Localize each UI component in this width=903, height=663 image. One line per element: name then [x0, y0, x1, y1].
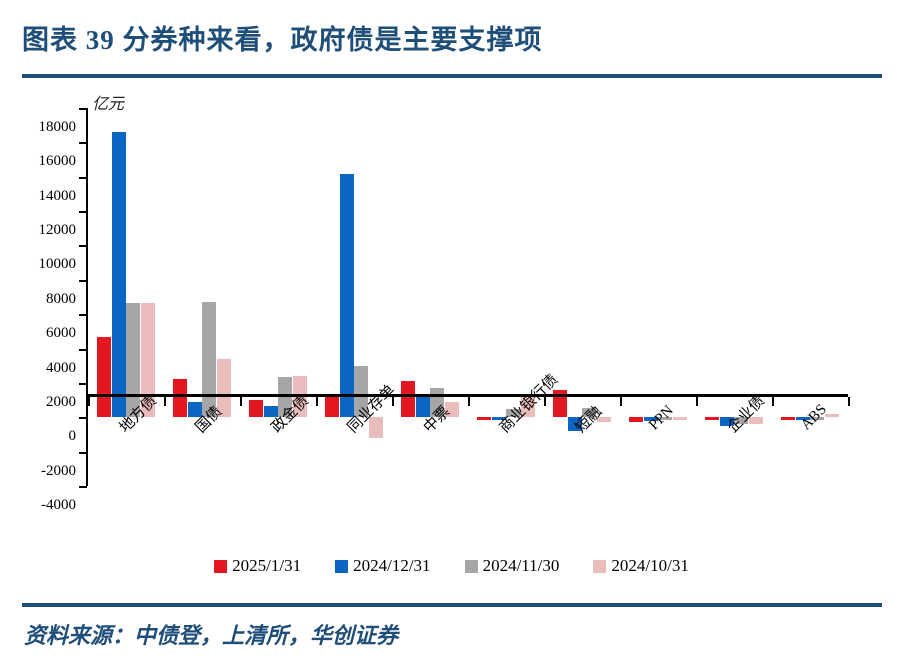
x-tick-mark — [620, 397, 622, 406]
x-tick-mark — [164, 397, 166, 406]
legend-swatch-icon — [335, 560, 348, 573]
x-tick-mark — [848, 397, 850, 406]
bars-layer — [0, 88, 903, 588]
legend-item[interactable]: 2024/12/31 — [335, 556, 430, 576]
bar — [112, 132, 126, 417]
x-tick-mark — [696, 397, 698, 406]
bar — [401, 381, 415, 417]
chart-plot-area: 亿元 1800016000140001200010000800060004000… — [0, 88, 903, 588]
legend-item[interactable]: 2024/11/30 — [465, 556, 560, 576]
legend-swatch-icon — [214, 560, 227, 573]
legend-swatch-icon — [593, 560, 606, 573]
legend-item[interactable]: 2025/1/31 — [214, 556, 301, 576]
bar — [705, 417, 719, 420]
bar — [673, 417, 687, 420]
bar — [629, 417, 643, 421]
bar — [340, 174, 354, 417]
x-tick-mark — [772, 397, 774, 406]
bar — [325, 394, 339, 417]
chart-legend: 2025/1/312024/12/312024/11/302024/10/31 — [0, 556, 903, 576]
bar — [477, 417, 491, 420]
legend-swatch-icon — [465, 560, 478, 573]
source-note: 资料来源：中债登，上清所，华创证券 — [24, 618, 398, 650]
x-tick-mark — [316, 397, 318, 406]
bar — [173, 379, 187, 417]
x-axis-zero-line — [86, 394, 848, 397]
page-title: 图表 39 分券种来看，政府债是主要支撑项 — [22, 18, 543, 57]
legend-label: 2024/12/31 — [353, 556, 430, 576]
bar — [202, 302, 216, 417]
header-rule — [22, 74, 882, 78]
x-tick-mark — [88, 397, 90, 406]
footer-rule — [22, 603, 882, 607]
x-tick-mark — [468, 397, 470, 406]
bar — [97, 337, 111, 417]
legend-label: 2024/10/31 — [611, 556, 688, 576]
legend-label: 2025/1/31 — [232, 556, 301, 576]
legend-item[interactable]: 2024/10/31 — [593, 556, 688, 576]
figure-container: 图表 39 分券种来看，政府债是主要支撑项 亿元 180001600014000… — [0, 0, 903, 663]
bar — [249, 400, 263, 417]
legend-label: 2024/11/30 — [483, 556, 560, 576]
x-tick-mark — [240, 397, 242, 406]
figure-header: 图表 39 分券种来看，政府债是主要支撑项 — [0, 0, 903, 74]
bar — [781, 417, 795, 420]
